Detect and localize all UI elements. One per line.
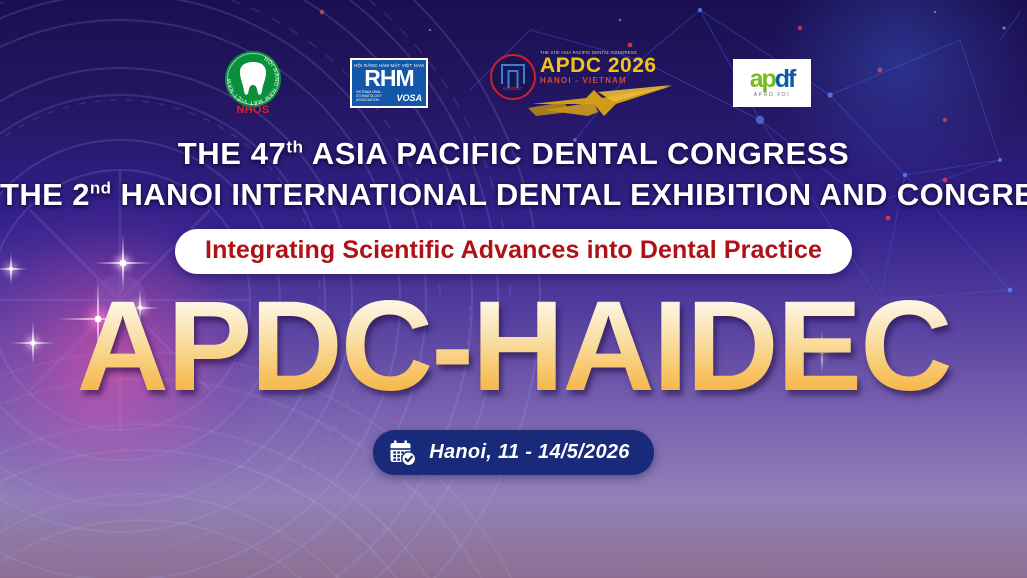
event-wordmark: APDC-HAIDEC (71, 283, 957, 411)
apdf-wordmark: apdf (750, 68, 795, 91)
apdc-haidec-event-banner: HỘI RĂNG HÀM MẶT VIỆT NAM NHOS HỘI RĂNG … (0, 0, 1027, 578)
headline-2-ordinal: nd (90, 179, 112, 198)
calendar-check-icon (389, 439, 417, 467)
date-location-text: Hanoi, 11 - 14/5/2026 (429, 441, 629, 464)
date-badge-container: Hanoi, 11 - 14/5/2026 (0, 430, 1027, 475)
headline-primary: THE 47th ASIA PACIFIC DENTAL CONGRESS (0, 136, 1027, 172)
apdf-word-blue: df (775, 65, 795, 93)
gate-icon (501, 64, 525, 84)
nhos-emblem: HỘI RĂNG HÀM MẶT VIỆT NAM (225, 51, 281, 107)
nhos-ring-text: HỘI RĂNG HÀM MẶT VIỆT NAM (225, 51, 281, 107)
headline-1-suffix: ASIA PACIFIC DENTAL CONGRESS (304, 136, 850, 171)
nhos-logo: HỘI RĂNG HÀM MẶT VIỆT NAM NHOS (216, 51, 290, 116)
headline-2-suffix: HANOI INTERNATIONAL DENTAL EXHIBITION AN… (111, 177, 1027, 212)
apdf-apro-fdi-logo: apdf APRO FDI (733, 59, 811, 107)
gold-star-graphic (524, 82, 674, 118)
apdc-main-text: APDC 2026 (540, 55, 657, 76)
apdf-word-green: ap (750, 65, 775, 93)
nhos-ring-label: HỘI RĂNG HÀM MẶT VIỆT NAM (227, 56, 280, 106)
tagline-container: Integrating Scientific Advances into Den… (0, 229, 1027, 274)
svg-text:HỘI RĂNG HÀM MẶT VIỆT NAM: HỘI RĂNG HÀM MẶT VIỆT NAM (227, 56, 280, 106)
date-location-badge[interactable]: Hanoi, 11 - 14/5/2026 (373, 430, 653, 475)
vosa-mark: VOSA (396, 93, 422, 103)
headline-secondary: THE 2nd HANOI INTERNATIONAL DENTAL EXHIB… (0, 177, 1027, 213)
apro-fdi-label: APRO FDI (754, 92, 790, 98)
wordmark-container: APDC-HAIDEC (0, 283, 1027, 411)
apdc-2026-logo: HAIDEC THE 47th ASIA PACIFIC DENTAL CONG… (488, 48, 673, 118)
headline-1-ordinal: th (286, 138, 303, 157)
headline-2-prefix: THE 2 (0, 177, 90, 212)
headline-1-prefix: THE 47 (178, 136, 287, 171)
apdc-sub-text: HANOI - VIETNAM (540, 76, 657, 85)
rhm-acronym: RHM (364, 68, 413, 90)
rhm-bottom-row: VIETNAM ORAL - STOMATOLOGY ASSOCIATION V… (356, 90, 422, 102)
rhm-association-text: VIETNAM ORAL - STOMATOLOGY ASSOCIATION (356, 90, 396, 102)
apdc-text-block: THE 47th ASIA PACIFIC DENTAL CONGRESS AP… (540, 50, 657, 85)
tagline-pill: Integrating Scientific Advances into Den… (175, 229, 852, 274)
rhm-vosa-logo: HỘI RĂNG HÀM MẶT VIỆT NAM RHM VIETNAM OR… (350, 58, 428, 108)
organizer-logo-row: HỘI RĂNG HÀM MẶT VIỆT NAM NHOS HỘI RĂNG … (0, 47, 1027, 119)
